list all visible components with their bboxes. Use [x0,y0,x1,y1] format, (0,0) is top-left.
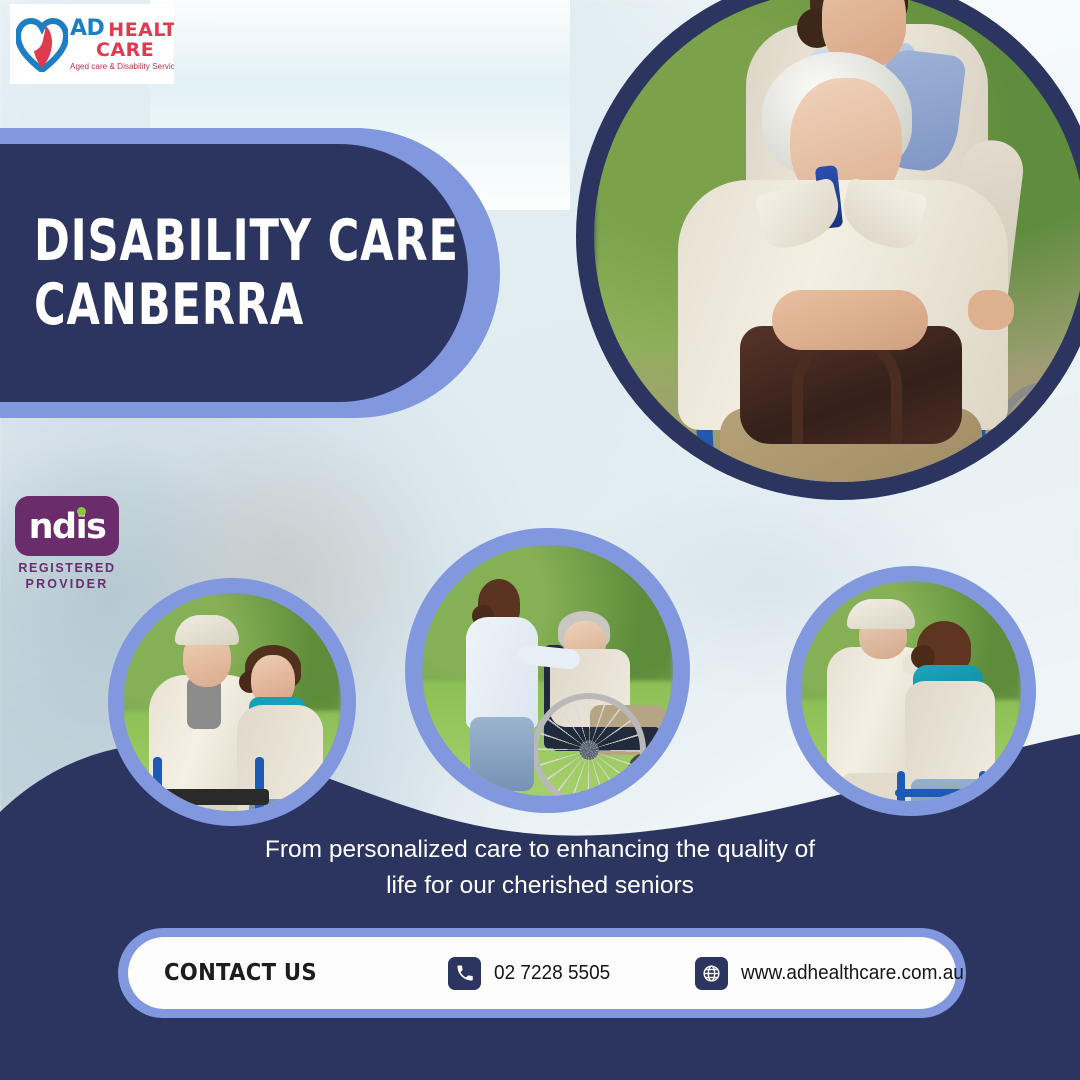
brand-tagline: Aged care & Disability Services [70,62,174,71]
ndis-badge-line1: REGISTERED [8,561,126,575]
phone-icon [448,957,481,990]
hero-image [594,0,1080,482]
brand-logo[interactable]: AD HEALTH CARE Aged care & Disability Se… [10,4,174,84]
brand-logo-text: AD HEALTH CARE Aged care & Disability Se… [70,18,174,71]
ndis-dot-icon [77,507,86,516]
contact-phone[interactable]: 02 7228 5505 [448,957,616,990]
headline-pill: DISABILITY CARE CANBERRA [0,144,468,402]
brand-logo-row: AD HEALTH [70,18,174,40]
hero-senior-hands [772,290,928,350]
gallery-3-senior-cap [847,599,915,629]
tagline-line1: From personalized care to enhancing the … [190,832,890,868]
gallery-image-3 [801,581,1021,801]
page-title-line1: DISABILITY CARE [34,207,340,275]
gallery-2-caregiver-jeans [470,717,534,791]
hero-image-ring [576,0,1080,500]
contact-us-label: CONTACT US [164,960,317,986]
tagline-line2: life for our cherished seniors [190,868,890,904]
page-title-line2: CANBERRA [34,271,340,339]
gallery-circle-3 [786,566,1036,816]
contact-bar: CONTACT US 02 7228 5505 www.adhealthcare… [128,937,956,1009]
globe-icon [695,957,728,990]
gallery-1-walker-seat [151,789,269,805]
gallery-circle-2 [405,528,690,813]
website-url: www.adhealthcare.com.au [741,962,964,985]
contact-website[interactable]: www.adhealthcare.com.au [695,957,976,990]
gallery-circle-1 [108,578,356,826]
gallery-image-2 [422,545,673,796]
phone-number: 02 7228 5505 [494,962,610,985]
gallery-3-walker-bar [895,789,989,797]
poster-canvas: DISABILITY CARE CANBERRA AD HEALTH CARE … [0,0,1080,1080]
gallery-2-caregiver-body [466,617,538,729]
heart-hand-icon [16,16,68,72]
gallery-2-wheelchair-wheel [532,693,646,796]
hero-caregiver-hand [968,290,1014,330]
gallery-1-senior-cap [175,615,239,645]
brand-word-care: CARE [96,41,174,60]
ndis-logo-chip: ndis [15,496,119,556]
brand-initials: AD [70,18,104,40]
ndis-badge-line2: PROVIDER [8,577,126,591]
ndis-wordmark: ndis [29,510,106,545]
brand-word-health: HEALTH [108,21,174,40]
ndis-registered-provider-badge: ndis REGISTERED PROVIDER [8,496,126,591]
marketing-tagline: From personalized care to enhancing the … [190,832,890,905]
gallery-image-1 [123,593,341,811]
